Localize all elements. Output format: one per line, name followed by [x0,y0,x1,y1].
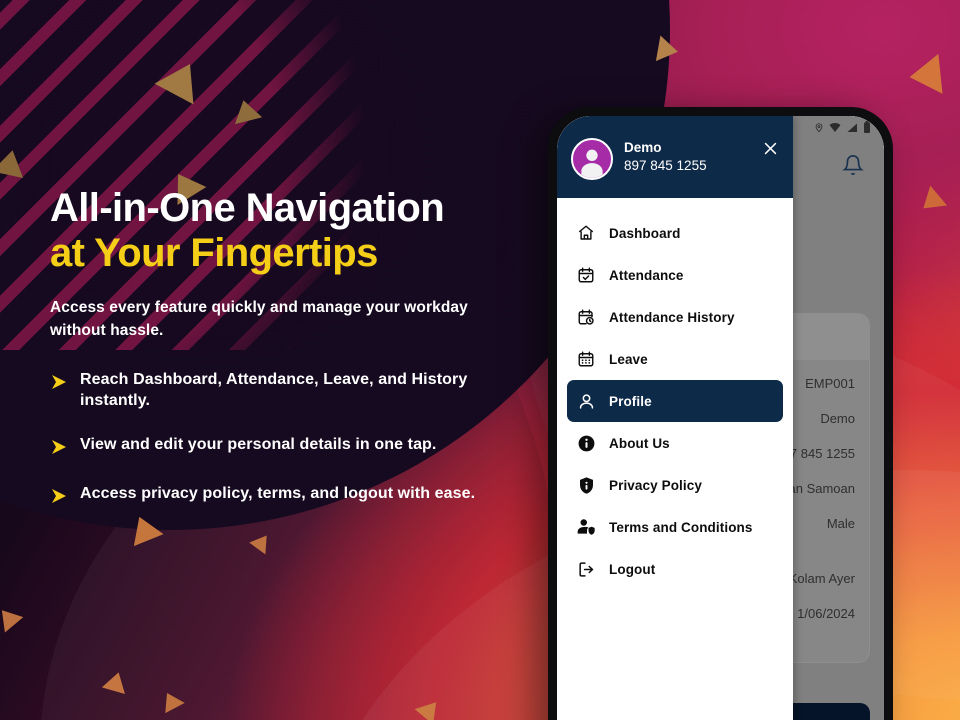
drawer-menu: Dashboard Attendance [557,198,793,720]
drawer-item-privacy-policy[interactable]: Privacy Policy [567,464,783,506]
drawer-item-label: Terms and Conditions [609,520,753,535]
drawer-item-attendance-history[interactable]: Attendance History [567,296,783,338]
location-icon [814,122,824,133]
user-icon [576,391,596,411]
list-item: View and edit your personal details in o… [50,434,550,461]
bell-icon [842,154,864,176]
chevron-right-icon [50,373,80,396]
shield-info-icon [576,475,596,495]
drawer-item-label: Dashboard [609,226,680,241]
battery-icon [863,121,871,133]
logout-icon [576,559,596,579]
drawer-item-profile[interactable]: Profile [567,380,783,422]
promo-copy: All-in-One Navigation at Your Fingertips… [50,186,550,510]
drawer-item-label: Logout [609,562,655,577]
user-avatar-icon [575,144,609,178]
drawer-item-label: Attendance [609,268,684,283]
list-item-label: Access privacy policy, terms, and logout… [80,483,475,505]
headline-line-2: at Your Fingertips [50,231,378,275]
drawer-header: Demo 897 845 1255 [557,116,793,198]
page-title: All-in-One Navigation at Your Fingertips [50,186,550,276]
list-item-label: View and edit your personal details in o… [80,434,436,456]
calendar-clock-icon [576,307,596,327]
list-item: Access privacy policy, terms, and logout… [50,483,550,510]
chevron-right-icon [50,487,80,510]
drawer-item-label: Attendance History [609,310,735,325]
drawer-item-logout[interactable]: Logout [567,548,783,590]
chevron-right-icon [50,438,80,461]
close-icon [762,140,779,157]
drawer-user-info: Demo 897 845 1255 [624,139,707,175]
headline-line-1: All-in-One Navigation [50,186,444,230]
phone-screen: EMP001 Demo 7 845 1255 an Samoan Male Ko… [557,116,884,720]
wifi-icon [829,122,841,133]
drawer-user-phone: 897 845 1255 [624,157,707,175]
promo-bullet-list: Reach Dashboard, Attendance, Leave, and … [50,369,550,510]
decor-triangle [907,54,942,97]
notification-bell-button[interactable] [842,154,864,181]
home-icon [576,223,596,243]
drawer-item-leave[interactable]: Leave [567,338,783,380]
calendar-icon [576,349,596,369]
navigation-drawer: Demo 897 845 1255 Dashboard [557,116,793,720]
avatar[interactable] [571,138,613,180]
info-icon [576,433,596,453]
drawer-item-label: Privacy Policy [609,478,702,493]
user-shield-icon [576,517,596,537]
status-bar-right [814,121,871,133]
calendar-check-icon [576,265,596,285]
close-drawer-button[interactable] [762,140,779,162]
list-item: Reach Dashboard, Attendance, Leave, and … [50,369,550,412]
drawer-item-label: Profile [609,394,652,409]
drawer-user-name: Demo [624,139,707,157]
phone-mockup: EMP001 Demo 7 845 1255 an Samoan Male Ko… [548,107,893,720]
promo-subcopy: Access every feature quickly and manage … [50,296,510,343]
drawer-item-label: About Us [609,436,670,451]
drawer-item-attendance[interactable]: Attendance [567,254,783,296]
drawer-item-about-us[interactable]: About Us [567,422,783,464]
list-item-label: Reach Dashboard, Attendance, Leave, and … [80,369,500,412]
drawer-item-label: Leave [609,352,648,367]
drawer-item-dashboard[interactable]: Dashboard [567,212,783,254]
drawer-item-terms-and-conditions[interactable]: Terms and Conditions [567,506,783,548]
signal-icon [846,122,858,133]
